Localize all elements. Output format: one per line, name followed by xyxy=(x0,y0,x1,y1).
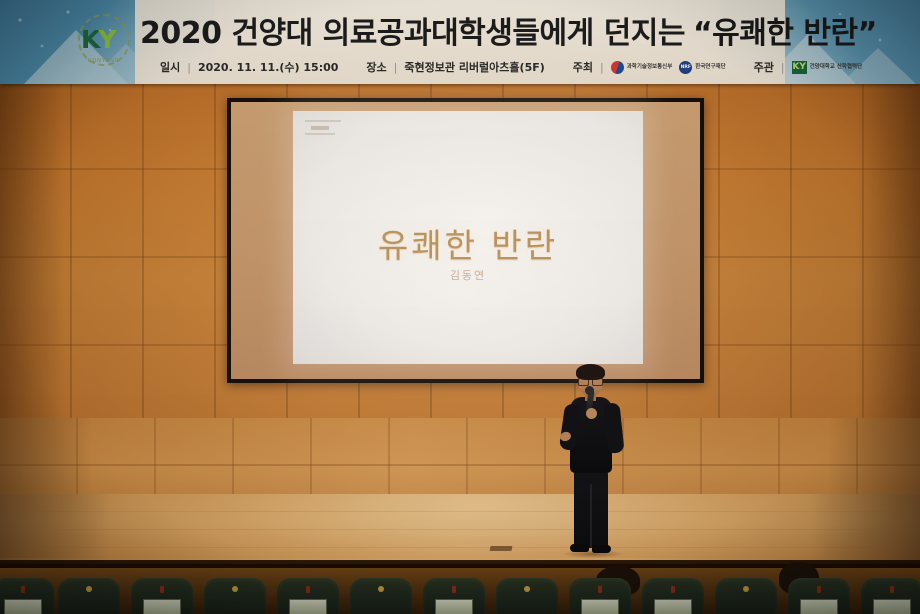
wall-panel-seams-lower xyxy=(0,418,920,500)
host-org-name: 한국연구재단 xyxy=(695,64,725,71)
stage-floor-boards xyxy=(0,494,920,564)
stage-floor xyxy=(0,494,920,564)
logo-tagline: KONYANG xyxy=(88,58,120,64)
organizer-org-name: 건양대학교 산학협력단 xyxy=(810,64,863,71)
auditorium-seat xyxy=(715,578,777,614)
stage-floor-marker xyxy=(490,546,513,551)
auditorium-seat xyxy=(861,578,920,614)
projected-slide: 유쾌한 반란 김동연 xyxy=(293,111,643,364)
ky-logo-icon: KY xyxy=(792,61,807,74)
banner-date-label: 일시 xyxy=(160,59,180,75)
auditorium-seat xyxy=(0,578,54,614)
banner-title-quoted: “유쾌한 반란” xyxy=(693,8,877,52)
banner-title-main: 2020 건양대 의료공과대학생들에게 던지는 xyxy=(140,8,685,52)
auditorium-back-wall-lower xyxy=(0,418,920,500)
banner-date-value: 2020. 11. 11.(수) 15:00 xyxy=(198,59,338,75)
banner-venue-label: 장소 xyxy=(366,59,386,75)
auditorium-house xyxy=(0,568,920,614)
auditorium-seat xyxy=(642,578,704,614)
auditorium-seat xyxy=(423,578,485,614)
banner-details-line: 일시 | 2020. 11. 11.(수) 15:00 장소 | 죽현정보관 리… xyxy=(160,58,862,76)
host-org-name: 과학기술정보통신부 xyxy=(627,64,673,71)
event-banner: KY KONYANG 2020 건양대 의료공과대학생들에게 던지는 “유쾌한 … xyxy=(0,0,920,84)
auditorium-lecture-photo: 유쾌한 반란 김동연 xyxy=(0,0,920,614)
konyang-university-logo: KY KONYANG xyxy=(78,14,130,66)
separator: | xyxy=(187,61,191,74)
organizer-org-ky: KY 건양대학교 산학협력단 xyxy=(792,61,863,74)
projection-screen-surround: 유쾌한 반란 김동연 xyxy=(231,102,700,379)
auditorium-seat xyxy=(496,578,558,614)
auditorium-seat xyxy=(58,578,120,614)
host-org-nrf: 한국연구재단 xyxy=(679,61,725,74)
speaker-shoe-left xyxy=(570,544,589,552)
logo-letter-y: Y xyxy=(98,25,114,54)
separator: | xyxy=(781,61,785,74)
korea-government-emblem-icon xyxy=(611,61,624,74)
speaker-hand-right xyxy=(586,408,597,419)
auditorium-seat xyxy=(788,578,850,614)
glasses-icon xyxy=(578,377,603,384)
slide-corner-logo-icon xyxy=(303,118,347,138)
projection-screen: 유쾌한 반란 김동연 xyxy=(227,98,704,383)
separator: | xyxy=(600,61,604,74)
banner-organizer-label: 주관 xyxy=(754,59,774,75)
speaker-shoe-right xyxy=(592,545,611,553)
auditorium-seat xyxy=(350,578,412,614)
slide-title: 유쾌한 반란 xyxy=(293,219,643,267)
logo-letter-k: K xyxy=(81,25,98,54)
auditorium-seat xyxy=(277,578,339,614)
banner-venue-value: 죽현정보관 리버럴아츠홀(5F) xyxy=(404,59,544,75)
speaker-figure xyxy=(556,366,626,558)
separator: | xyxy=(394,61,398,74)
slide-subtitle: 김동연 xyxy=(293,267,643,283)
banner-host-label: 주최 xyxy=(573,59,593,75)
microphone-head-icon xyxy=(585,386,594,395)
auditorium-seat xyxy=(131,578,193,614)
auditorium-seat xyxy=(569,578,631,614)
wall-trim-line xyxy=(0,464,920,466)
banner-title: 2020 건양대 의료공과대학생들에게 던지는 “유쾌한 반란” xyxy=(140,8,910,52)
speaker-legs xyxy=(574,470,608,548)
nrf-logo-icon xyxy=(679,61,692,74)
host-org-msit: 과학기술정보통신부 xyxy=(611,61,673,74)
logo-letters: KY xyxy=(81,27,114,52)
auditorium-seat xyxy=(204,578,266,614)
